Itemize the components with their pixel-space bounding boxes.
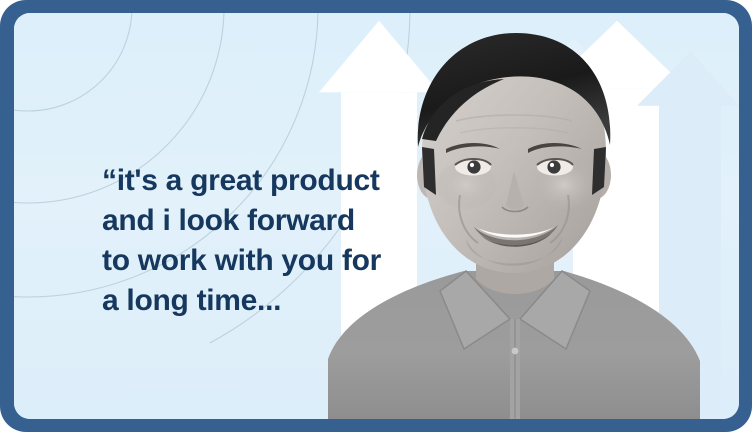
testimonial-card-frame: “it's a great product and i look forward… — [0, 0, 752, 432]
quote-line-3: to work with you for — [102, 241, 462, 281]
quote-line-2: and i look forward — [102, 201, 462, 241]
testimonial-card: “it's a great product and i look forward… — [14, 13, 739, 419]
testimonial-quote: “it's a great product and i look forward… — [102, 161, 462, 321]
quote-line-4: a long time... — [102, 281, 462, 321]
quote-line-1: “it's a great product — [102, 161, 462, 201]
